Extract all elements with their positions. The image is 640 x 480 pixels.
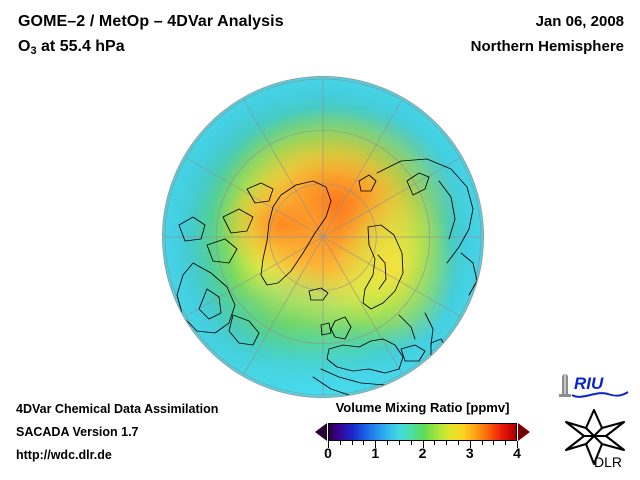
colorbar-low-cap-arrow xyxy=(315,423,327,441)
dlr-wordmark: DLR xyxy=(594,454,622,470)
credit-line-url[interactable]: http://wdc.dlr.de xyxy=(16,448,218,462)
colorbar-tick-label: 4 xyxy=(513,445,521,461)
colorbar-tick-label: 1 xyxy=(371,445,379,461)
colorbar-tick-labels: 01234 xyxy=(315,445,530,463)
orthographic-projection-disc xyxy=(162,76,484,398)
map-overlay xyxy=(163,77,483,397)
colorbar-gradient xyxy=(328,423,517,441)
analysis-date: Jan 06, 2008 xyxy=(471,13,624,30)
colorbar-tick-label: 3 xyxy=(466,445,474,461)
riu-logo: RIU xyxy=(556,372,630,402)
credits-block: 4DVar Chemical Data Assimilation SACADA … xyxy=(16,402,218,471)
coastlines xyxy=(177,159,477,397)
colorbar-tick-label: 0 xyxy=(324,445,332,461)
page-title: GOME–2 / MetOp – 4DVar Analysis xyxy=(18,13,438,31)
dlr-logo: DLR xyxy=(560,408,632,470)
colorbar-high-cap-arrow xyxy=(518,423,530,441)
colorbar-title: Volume Mixing Ratio [ppmv] xyxy=(315,400,530,415)
graticule-lines xyxy=(165,79,481,395)
species-label: O xyxy=(18,38,30,55)
pressure-level-label: at 55.4 hPa xyxy=(37,38,125,55)
colorbar-tick-label: 2 xyxy=(419,445,427,461)
title-block: GOME–2 / MetOp – 4DVar Analysis O3 at 55… xyxy=(18,13,438,56)
globe-map xyxy=(162,76,484,398)
riu-wordmark: RIU xyxy=(574,374,604,393)
credit-line-assimilation: 4DVar Chemical Data Assimilation xyxy=(16,402,218,416)
colorbar xyxy=(315,420,530,444)
colorbar-block: Volume Mixing Ratio [ppmv] 01234 xyxy=(315,400,530,463)
hemisphere-label: Northern Hemisphere xyxy=(471,38,624,55)
date-block: Jan 06, 2008 Northern Hemisphere xyxy=(471,13,624,55)
credit-line-version: SACADA Version 1.7 xyxy=(16,425,218,439)
riu-tower-icon xyxy=(559,373,571,397)
species-subscript: 3 xyxy=(30,45,36,57)
species-level-subtitle: O3 at 55.4 hPa xyxy=(18,38,438,56)
